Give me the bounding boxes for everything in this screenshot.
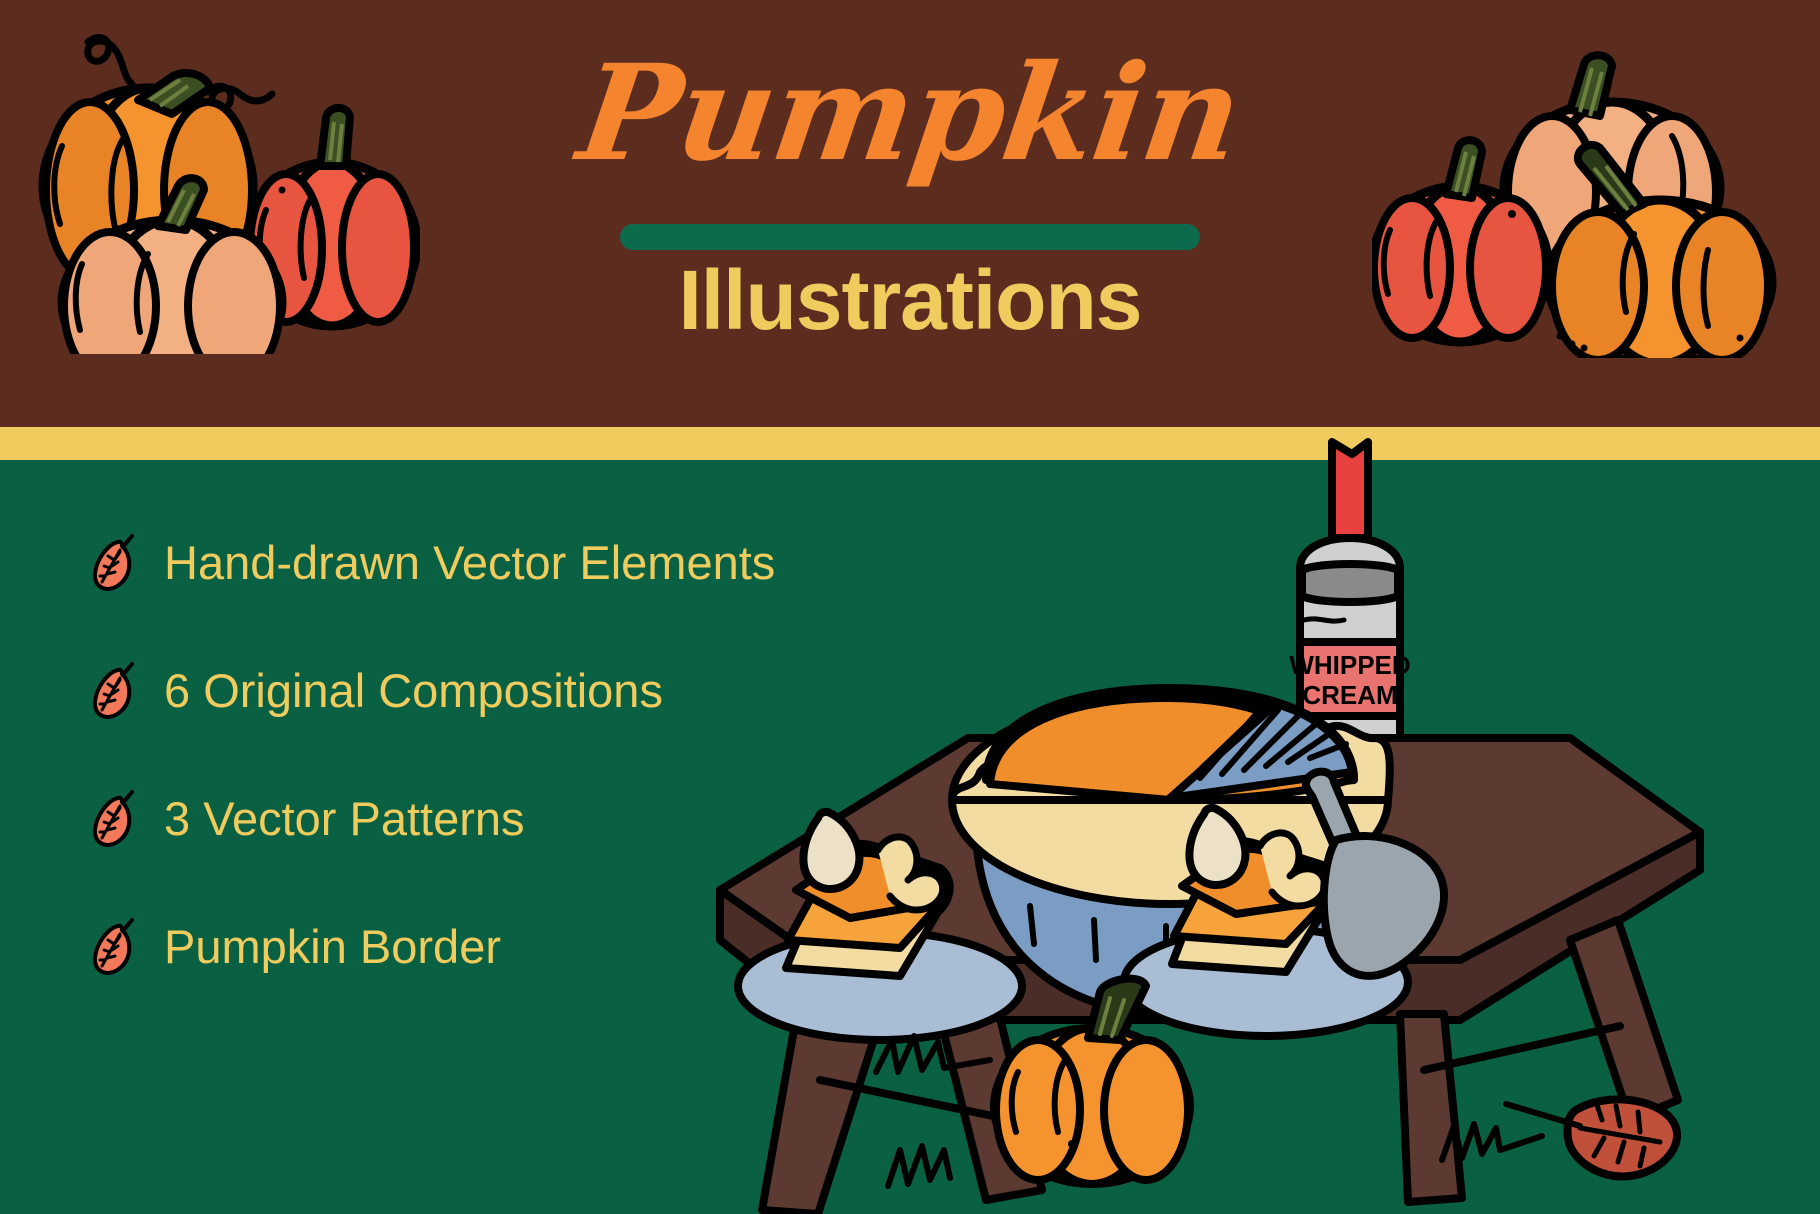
list-item-label: Hand-drawn Vector Elements	[164, 535, 775, 590]
title-underline-bar	[620, 224, 1200, 250]
list-item[interactable]: 3 Vector Patterns	[92, 754, 872, 882]
promo-graphic: Pumpkin Illustrations	[0, 0, 1820, 1214]
leaf-icon	[92, 788, 138, 848]
list-item[interactable]: Hand-drawn Vector Elements	[92, 498, 872, 626]
list-item-label: 3 Vector Patterns	[164, 791, 525, 846]
page-subtitle: Illustrations	[560, 258, 1260, 342]
leaf-icon	[92, 916, 138, 976]
page-title: Pumpkin	[551, 48, 1270, 180]
svg-text:CREAM: CREAM	[1302, 680, 1397, 710]
leaf-icon	[92, 532, 138, 592]
pumpkin-cluster-left	[20, 14, 420, 354]
list-item[interactable]: 6 Original Compositions	[92, 626, 872, 754]
svg-text:WHIPPED: WHIPPED	[1289, 650, 1410, 680]
leaf-icon	[92, 660, 138, 720]
feature-list: Hand-drawn Vector Elements 6 Original Co…	[92, 498, 872, 1010]
list-item[interactable]: Pumpkin Border	[92, 882, 872, 1010]
list-item-label: 6 Original Compositions	[164, 663, 663, 718]
title-block: Pumpkin Illustrations	[560, 48, 1260, 368]
pumpkin-cluster-right	[1372, 38, 1802, 358]
list-item-label: Pumpkin Border	[164, 919, 501, 974]
